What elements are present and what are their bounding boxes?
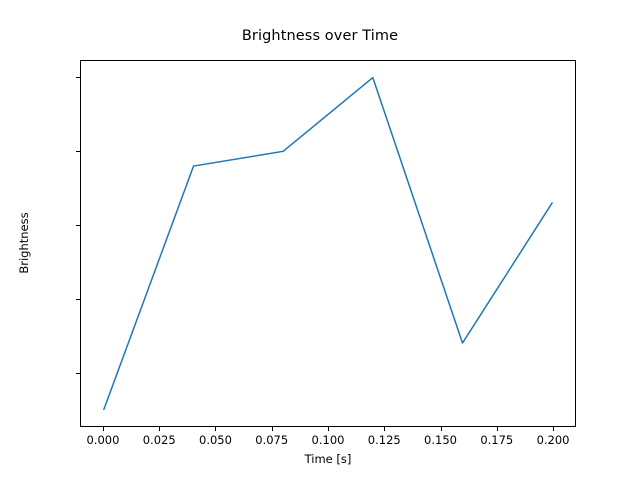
x-tick-mark (497, 427, 498, 431)
x-tick-mark (272, 427, 273, 431)
x-tick-label: 0.200 (518, 433, 588, 447)
y-tick-mark (76, 151, 80, 152)
y-tick-mark (76, 225, 80, 226)
x-tick-mark (384, 427, 385, 431)
x-tick-mark (553, 427, 554, 431)
line-plot-svg (81, 61, 575, 426)
x-tick-mark (103, 427, 104, 431)
plot-axes-frame (80, 60, 576, 427)
x-axis-label: Time [s] (80, 452, 576, 466)
y-tick-mark (76, 299, 80, 300)
x-tick-mark (215, 427, 216, 431)
x-tick-mark (328, 427, 329, 431)
x-tick-mark (441, 427, 442, 431)
chart-title: Brightness over Time (0, 28, 640, 44)
x-tick-mark (159, 427, 160, 431)
y-axis-label-wrapper: Brightness (0, 0, 40, 480)
brightness-line-series (104, 78, 552, 410)
y-axis-label: Brightness (17, 143, 31, 343)
y-tick-mark (76, 77, 80, 78)
y-tick-mark (76, 373, 80, 374)
chart-figure: Brightness over Time Brightness Time [s]… (0, 0, 640, 480)
